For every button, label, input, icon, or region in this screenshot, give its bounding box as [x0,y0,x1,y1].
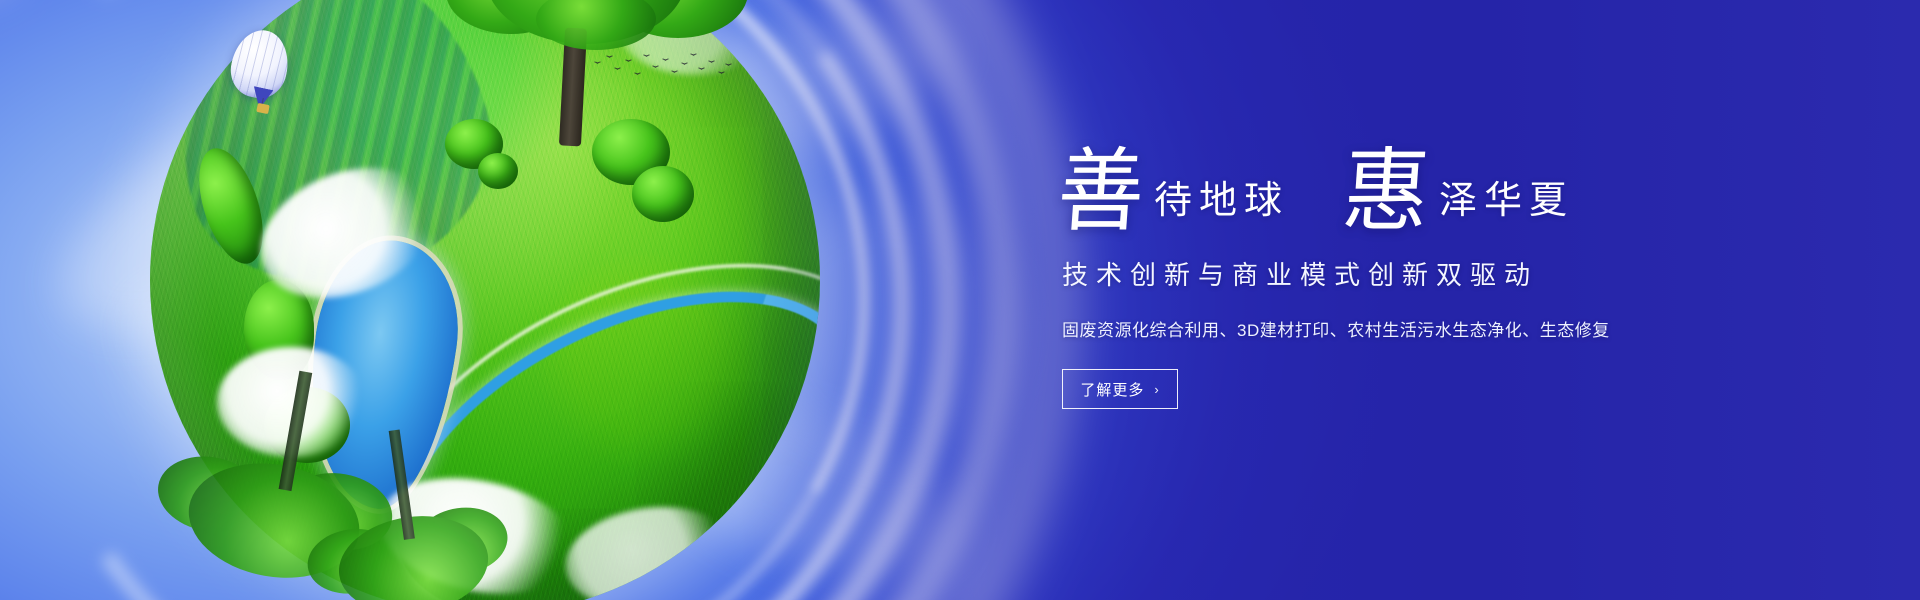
bird-icon [725,64,732,68]
tree-canopy [536,0,656,50]
page-title: 善 待地球 惠 泽华夏 [1058,148,1818,225]
headline-small-1: 待地球 [1144,181,1289,219]
bird-icon [634,73,641,77]
bird-icon [625,60,632,64]
bird-icon [671,71,678,75]
balloon-basket [256,103,270,114]
bird-icon [594,62,601,66]
bird-icon [698,68,705,72]
bird-icon [614,68,621,72]
bird-icon [718,72,725,76]
headline-brush-char-1: 善 [1055,152,1147,234]
hot-air-balloon-icon [232,30,288,128]
chevron-right-icon: › [1154,382,1159,397]
headline-small-2: 泽华夏 [1429,181,1574,219]
hero-copy: 善 待地球 惠 泽华夏 技术创新与商业模式创新双驱动 固废资源化综合利用、3D建… [1058,148,1818,409]
bird-icon [652,66,659,70]
headline-brush-char-2: 惠 [1340,152,1432,234]
description-text: 固废资源化综合利用、3D建材打印、农村生活污水生态净化、生态修复 [1062,316,1818,341]
birds-flock-icon [592,52,732,92]
bird-icon [690,54,697,58]
bird-icon [708,61,715,65]
inverted-tree-icon [286,367,515,600]
learn-more-button[interactable]: 了解更多 › [1062,369,1178,409]
bird-icon [643,55,650,59]
hero-banner: 善 待地球 惠 泽华夏 技术创新与商业模式创新双驱动 固废资源化综合利用、3D建… [0,0,1920,600]
bird-icon [606,56,613,60]
bird-icon [681,63,688,67]
subtitle: 技术创新与商业模式创新双驱动 [1062,255,1818,292]
learn-more-label: 了解更多 [1080,379,1144,400]
bird-icon [662,59,669,63]
